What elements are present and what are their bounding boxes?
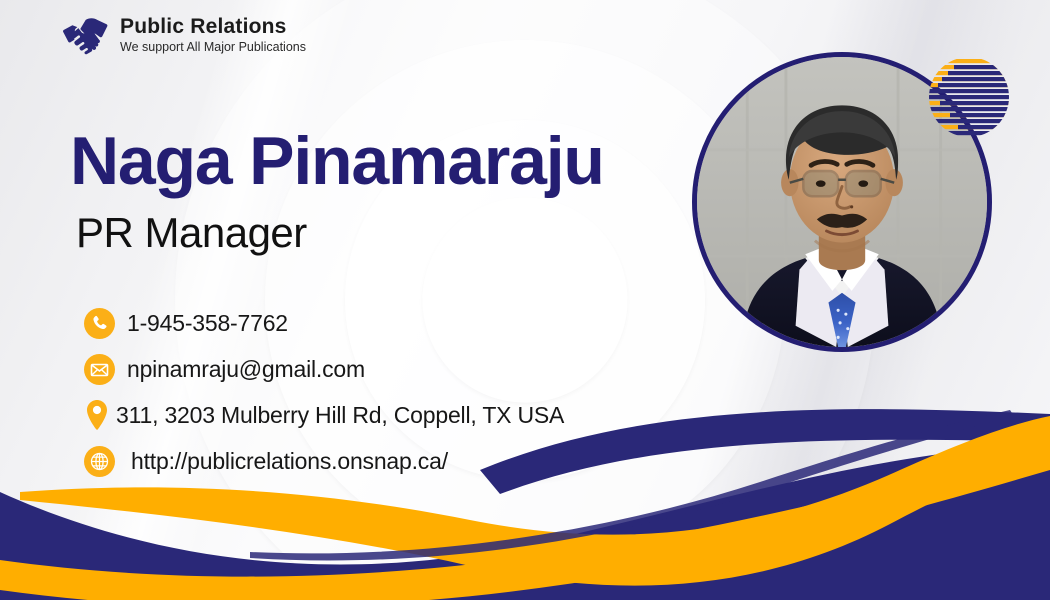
contact-list: 1-945-358-7762 npinamraju@gmail.com (84, 300, 564, 484)
person-role: PR Manager (76, 212, 307, 254)
business-card: Public Relations We support All Major Pu… (0, 0, 1050, 600)
map-pin-icon (84, 400, 110, 431)
brand-logo: Public Relations We support All Major Pu… (62, 14, 306, 56)
contact-value-address: 311, 3203 Mulberry Hill Rd, Coppell, TX … (116, 402, 564, 429)
contact-value-phone: 1-945-358-7762 (127, 310, 288, 337)
brand-title: Public Relations (120, 16, 306, 37)
contact-row-phone[interactable]: 1-945-358-7762 (84, 300, 564, 346)
phone-icon (84, 308, 115, 339)
contact-row-address[interactable]: 311, 3203 Mulberry Hill Rd, Coppell, TX … (84, 392, 564, 438)
globe-icon (84, 446, 115, 477)
brand-tagline: We support All Major Publications (120, 41, 306, 54)
contact-value-website: http://publicrelations.onsnap.ca/ (131, 448, 448, 475)
person-name: Naga Pinamaraju (70, 127, 604, 195)
contact-row-email[interactable]: npinamraju@gmail.com (84, 346, 564, 392)
handshake-icon (62, 14, 108, 56)
striped-circle-badge (928, 56, 1010, 138)
contact-value-email: npinamraju@gmail.com (127, 356, 365, 383)
contact-row-website[interactable]: http://publicrelations.onsnap.ca/ (84, 438, 564, 484)
envelope-icon (84, 354, 115, 385)
